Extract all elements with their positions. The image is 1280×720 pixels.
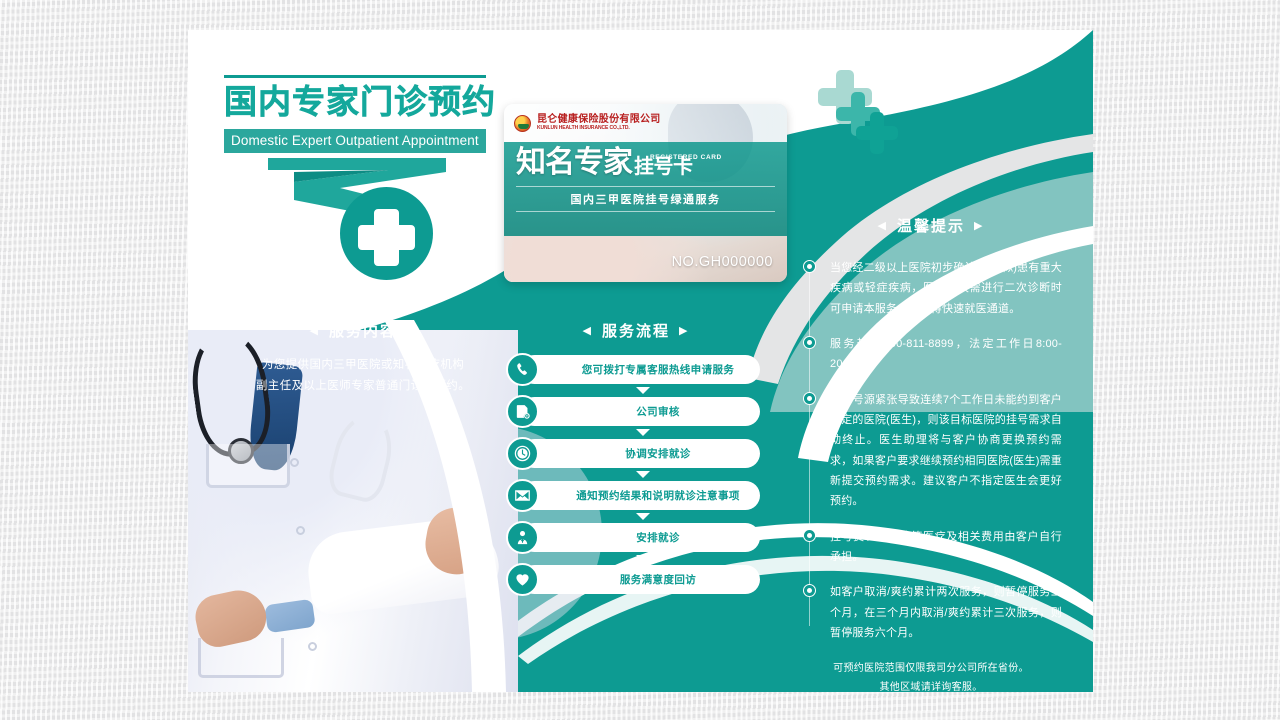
- tip-text: 挂号费、检查费等医疗及相关费用由客户自行承担。: [830, 527, 1062, 568]
- tip-item: 当您经二级以上医院初步确诊(或疑似)患有重大疾病或轻症疾病，医生建议需进行二次诊…: [800, 258, 1062, 319]
- service-flow-section: ◀ 服务流程 ▶ 您可拨打专属客服热线申请服务公司审核协调安排就诊通知预约结果和…: [506, 320, 766, 594]
- flow-step-label: 公司审核: [600, 404, 680, 419]
- flow-arrow-icon: [506, 510, 766, 523]
- service-content-heading: ◀ 服务内容 ▶: [213, 320, 513, 341]
- card-title-main: 知名专家: [516, 149, 632, 178]
- tip-text: 如客户取消/爽约累计两次服务，则暂停服务三个月，在三个月内取消/爽约累计三次服务…: [830, 582, 1062, 643]
- flow-step-label: 协调安排就诊: [589, 446, 690, 461]
- page-title-block: 国内专家门诊预约 Domestic Expert Outpatient Appo…: [224, 75, 514, 153]
- phone-icon: [506, 353, 539, 386]
- service-content-section: ◀ 服务内容 ▶ 为您提供国内三甲医院或知名医疗机构 副主任及以上医师专家普通门…: [213, 320, 513, 398]
- tips-footnote-line-2: 其他区域请详询客服。: [800, 678, 1062, 692]
- doctor-icon: [506, 521, 539, 554]
- bullet-dot-icon: [803, 584, 816, 597]
- flow-step-pill[interactable]: 协调安排就诊: [520, 439, 760, 468]
- flow-step-pill[interactable]: 服务满意度回访: [520, 565, 760, 594]
- card-header: 昆仑健康保险股份有限公司 KUNLUN HEALTH INSURANCE CO.…: [504, 104, 787, 142]
- card-registered-label: REGISTERED CARD: [650, 154, 722, 161]
- service-content-heading-text: 服务内容: [329, 320, 397, 341]
- flow-arrow-icon: [506, 468, 766, 481]
- tip-item: 服务热线400-811-8899，法定工作日8:00-20:00。: [800, 334, 1062, 375]
- bullet-dot-icon: [803, 260, 816, 273]
- clock-icon: [506, 437, 539, 470]
- arrow-right-icon: ▶: [406, 324, 416, 337]
- cross-icon-large: [340, 187, 433, 280]
- service-flow-heading: ◀ 服务流程 ▶: [506, 320, 766, 341]
- tips-section: ◀ 温馨提示 ▶ 当您经二级以上医院初步确诊(或疑似)患有重大疾病或轻症疾病，医…: [800, 215, 1062, 692]
- flow-step[interactable]: 协调安排就诊: [506, 439, 766, 468]
- flow-step-label: 安排就诊: [600, 530, 680, 545]
- arrow-right-icon: ▶: [974, 219, 984, 232]
- card-title-band: 知名专家 挂号卡 REGISTERED CARD 国内三甲医院挂号绿通服务: [504, 142, 787, 236]
- flow-step[interactable]: 您可拨打专属客服热线申请服务: [506, 355, 766, 384]
- tips-list: 当您经二级以上医院初步确诊(或疑似)患有重大疾病或轻症疾病，医生建议需进行二次诊…: [800, 258, 1062, 644]
- arrow-left-icon: ◀: [310, 324, 320, 337]
- arrow-left-icon: ◀: [583, 324, 593, 337]
- flow-step-pill[interactable]: 公司审核: [520, 397, 760, 426]
- flow-step-label: 通知预约结果和说明就诊注意事项: [540, 488, 740, 503]
- tip-text: 当您经二级以上医院初步确诊(或疑似)患有重大疾病或轻症疾病，医生建议需进行二次诊…: [830, 258, 1062, 319]
- arrow-left-icon: ◀: [878, 219, 888, 232]
- cross-icon-c: [446, 216, 476, 246]
- flow-step-label: 您可拨打专属客服热线申请服务: [546, 362, 735, 377]
- tips-heading-text: 温馨提示: [897, 215, 965, 236]
- tips-footnote-line-1: 可预约医院范围仅限我司分公司所在省份。: [800, 659, 1062, 679]
- cross-icon-dark: [856, 112, 898, 154]
- arrow-right-icon: ▶: [679, 324, 689, 337]
- bullet-dot-icon: [803, 529, 816, 542]
- bullet-dot-icon: [803, 336, 816, 349]
- page-title: 国内专家门诊预约: [224, 85, 514, 120]
- flow-step[interactable]: 服务满意度回访: [506, 565, 766, 594]
- flow-step-label: 服务满意度回访: [584, 572, 696, 587]
- bullet-dot-icon: [803, 392, 816, 405]
- service-content-line-2: 副主任及以上医师专家普通门诊的预约。: [213, 376, 513, 397]
- flow-arrow-icon: [506, 426, 766, 439]
- flow-step[interactable]: 安排就诊: [506, 523, 766, 552]
- card-number: NO.GH000000: [672, 254, 773, 270]
- flow-step[interactable]: 通知预约结果和说明就诊注意事项: [506, 481, 766, 510]
- flow-arrow-icon: [506, 552, 766, 565]
- card-subtitle: 国内三甲医院挂号绿通服务: [516, 186, 775, 212]
- service-flow-list: 您可拨打专属客服热线申请服务公司审核协调安排就诊通知预约结果和说明就诊注意事项安…: [506, 355, 766, 594]
- service-content-body: 为您提供国内三甲医院或知名医疗机构 副主任及以上医师专家普通门诊的预约。: [213, 355, 513, 398]
- document-review-icon: [506, 395, 539, 428]
- membership-card[interactable]: 昆仑健康保险股份有限公司 KUNLUN HEALTH INSURANCE CO.…: [504, 104, 787, 282]
- flow-step[interactable]: 公司审核: [506, 397, 766, 426]
- cross-icon-large-badge: [340, 187, 433, 280]
- poster-canvas: 国内专家门诊预约 Domestic Expert Outpatient Appo…: [188, 30, 1093, 692]
- tip-item: 挂号费、检查费等医疗及相关费用由客户自行承担。: [800, 527, 1062, 568]
- service-flow-heading-text: 服务流程: [602, 320, 670, 341]
- card-company-en: KUNLUN HEALTH INSURANCE CO.,LTD.: [537, 125, 661, 131]
- flow-step-pill[interactable]: 通知预约结果和说明就诊注意事项: [520, 481, 760, 510]
- service-content-line-1: 为您提供国内三甲医院或知名医疗机构: [213, 355, 513, 376]
- envelope-icon: [506, 479, 539, 512]
- flow-step-pill[interactable]: 您可拨打专属客服热线申请服务: [520, 355, 760, 384]
- kunlun-logo-icon: [514, 115, 531, 132]
- page-subtitle: Domestic Expert Outpatient Appointment: [224, 129, 486, 153]
- tip-item: 如客户取消/爽约累计两次服务，则暂停服务三个月，在三个月内取消/爽约累计三次服务…: [800, 582, 1062, 643]
- tip-item: 由于号源紧张导致连续7个工作日未能约到客户指定的医院(医生)，则该目标医院的挂号…: [800, 390, 1062, 512]
- flow-arrow-icon: [506, 384, 766, 397]
- title-rule: [224, 75, 486, 78]
- heart-icon: [506, 563, 539, 596]
- flow-step-pill[interactable]: 安排就诊: [520, 523, 760, 552]
- tips-heading: ◀ 温馨提示 ▶: [800, 215, 1062, 236]
- tips-footnote: 可预约医院范围仅限我司分公司所在省份。 其他区域请详询客服。: [800, 659, 1062, 693]
- tip-text: 由于号源紧张导致连续7个工作日未能约到客户指定的医院(医生)，则该目标医院的挂号…: [830, 390, 1062, 512]
- tip-text: 服务热线400-811-8899，法定工作日8:00-20:00。: [830, 334, 1062, 375]
